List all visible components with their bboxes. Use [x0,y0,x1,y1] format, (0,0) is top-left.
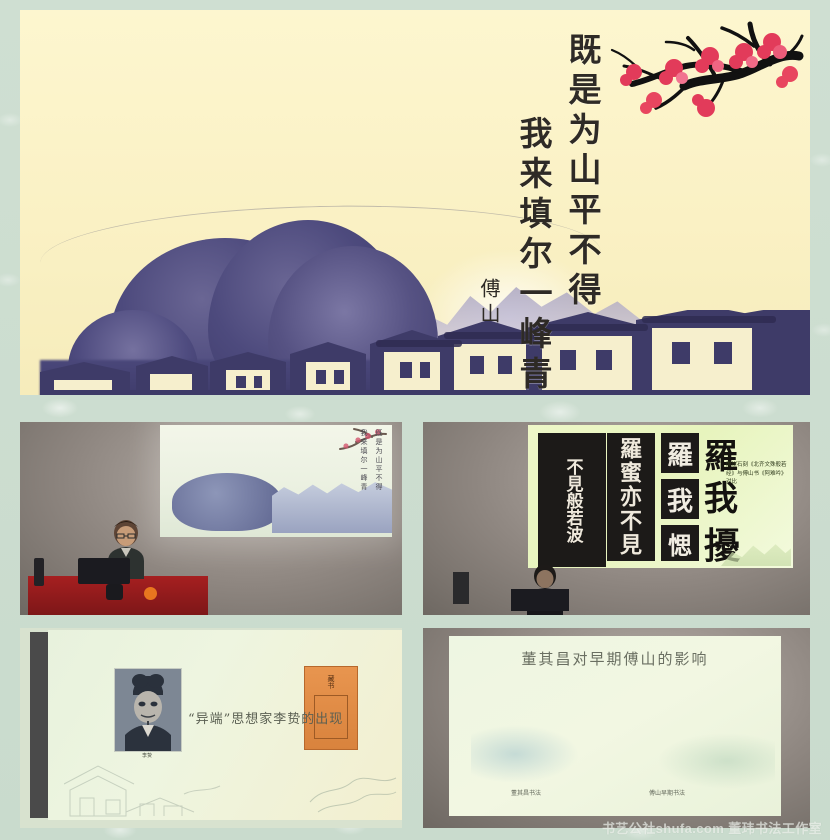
caption-left: 董其昌书法 [511,788,541,797]
poem-signature: 傅山 [475,278,504,328]
hill-motif [308,772,398,814]
watermark: 书艺公社shufa.com 董玮书法工作室 [602,818,822,837]
poem-column-1: 既是为山平不得 [566,32,599,395]
hero-banner: 既是为山平不得 我来填尔一峰青 傅山 [20,10,810,395]
poem-column-2: 我来填尔一峰青 [517,116,550,395]
water-bottle [34,558,44,586]
projection-screen-2: 不見般若波 羅蜜亦不見 羅 我 愢 羅 我 擾 摩崖石刻《北齐文殊般若经》与傅山… [528,425,793,568]
floor-speaker [453,572,469,604]
rubbing-column-1: 不見般若波 [564,458,581,543]
slide-caption: 摩崖石刻《北齐文殊般若经》与傅山书《阿难吟》对比 [726,461,788,487]
seal-char-1: 羅 [661,433,699,473]
caption-right: 傅山早期书法 [649,788,685,797]
slide-title: 董其昌对早期傅山的影响 [521,648,708,669]
laptop [78,558,130,584]
photo-lecture-hall-1: 既是为山平不得 我来填尔一峰青 [20,422,402,615]
portrait-caption: 李贽 [114,752,180,759]
calligraphy-wash-right [655,732,775,790]
slide-poem: 既是为山平不得 我来填尔一峰青 [359,429,384,492]
calligraphy-wash-left [471,724,581,784]
photo-slide-dong-qichang: 董其昌对早期傅山的影响 董其昌书法 傅山早期书法 [423,628,810,828]
orange-fruit [144,587,157,600]
stone-rubbing-left: 不見般若波 [538,433,606,567]
plum-blossom-icon [594,16,804,136]
slide-poem-column-1: 既是为山平不得 [374,429,384,492]
portrait-li-zhi [114,668,182,752]
village-rooftops-svg [40,310,810,395]
photo-slide-li-zhi: 李贽 藏书 “异端”思想家李贽的出现 [20,628,402,828]
book-title-label: 藏书 [326,675,336,689]
photo-lecture-hall-2: 不見般若波 羅蜜亦不見 羅 我 愢 羅 我 擾 摩崖石刻《北齐文殊般若经》与傅山… [423,422,810,615]
banner-poem: 既是为山平不得 我来填尔一峰青 [517,32,599,395]
sketch-houses-motif [64,750,224,820]
laptop [511,589,569,611]
seal-char-2: 我 [661,479,699,519]
slide-title: “异端”思想家李贽的出现 [188,708,343,727]
stone-rubbing-right: 羅蜜亦不見 [607,433,655,561]
rubbing-column-2: 羅蜜亦不見 [613,437,645,557]
projection-screen-1: 既是为山平不得 我来填尔一峰青 [160,425,392,537]
camera-device [106,584,123,600]
seal-char-3: 愢 [661,525,699,561]
slide-tree [172,473,282,531]
village-skyline [40,310,810,395]
slide-poem-column-2: 我来填尔一峰青 [359,429,369,492]
slide-surface: 董其昌对早期傅山的影响 董其昌书法 傅山早期书法 [449,636,781,816]
slide-surface: 李贽 藏书 “异端”思想家李贽的出现 [48,630,402,820]
